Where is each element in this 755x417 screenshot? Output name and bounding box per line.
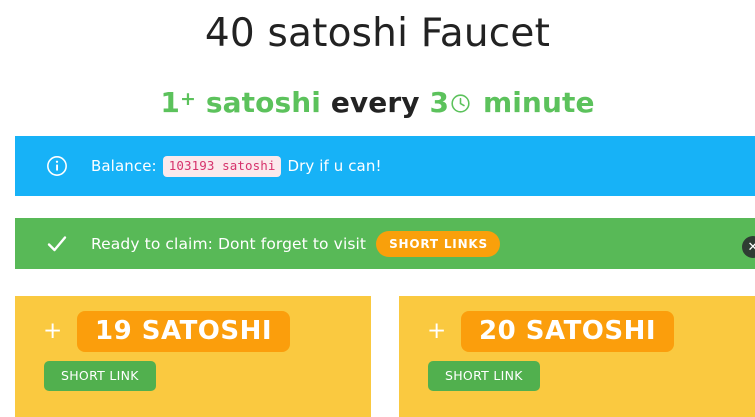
subtitle-interval: 3 <box>430 86 450 119</box>
short-link-button[interactable]: SHORT LINK <box>428 361 540 391</box>
claim-card: + 19 SATOSHI SHORT LINK <box>15 296 371 417</box>
balance-note: Dry if u can! <box>287 156 381 176</box>
subtitle: 1+ satoshi every 3 minute <box>0 62 755 122</box>
check-icon <box>45 232 69 256</box>
short-links-button[interactable]: SHORT LINKS <box>376 231 500 257</box>
page-title: 40 satoshi Faucet <box>0 0 755 62</box>
claim-card-top: + 19 SATOSHI <box>40 311 371 352</box>
subtitle-plus: + <box>180 88 196 110</box>
status-alert: Ready to claim: Dont forget to visit SHO… <box>15 218 755 269</box>
subtitle-period: minute <box>483 86 595 119</box>
subtitle-every: every <box>331 86 420 119</box>
info-circle-icon <box>45 154 69 178</box>
balance-alert: Balance: 103193 satoshi Dry if u can! <box>15 136 755 196</box>
claim-amount-button[interactable]: 19 SATOSHI <box>77 311 290 352</box>
balance-value: 103193 satoshi <box>163 156 282 177</box>
subtitle-amount: 1 <box>160 86 180 119</box>
short-link-button[interactable]: SHORT LINK <box>44 361 156 391</box>
claim-card-top: + 20 SATOSHI <box>424 311 755 352</box>
balance-text: Balance: 103193 satoshi Dry if u can! <box>91 156 382 177</box>
subtitle-unit: satoshi <box>206 86 321 119</box>
balance-label: Balance: <box>91 156 157 176</box>
claim-cards: + 19 SATOSHI SHORT LINK + 20 SATOSHI SHO… <box>15 296 755 417</box>
claim-plus-sign: + <box>424 320 453 343</box>
claim-plus-sign: + <box>40 320 69 343</box>
status-text: Ready to claim: Dont forget to visit SHO… <box>91 231 500 257</box>
claim-amount-button[interactable]: 20 SATOSHI <box>461 311 674 352</box>
close-circle-icon[interactable]: ✕ <box>742 236 755 258</box>
claim-card: + 20 SATOSHI SHORT LINK <box>399 296 755 417</box>
status-message: Ready to claim: Dont forget to visit <box>91 234 366 254</box>
clock-icon <box>450 86 471 107</box>
